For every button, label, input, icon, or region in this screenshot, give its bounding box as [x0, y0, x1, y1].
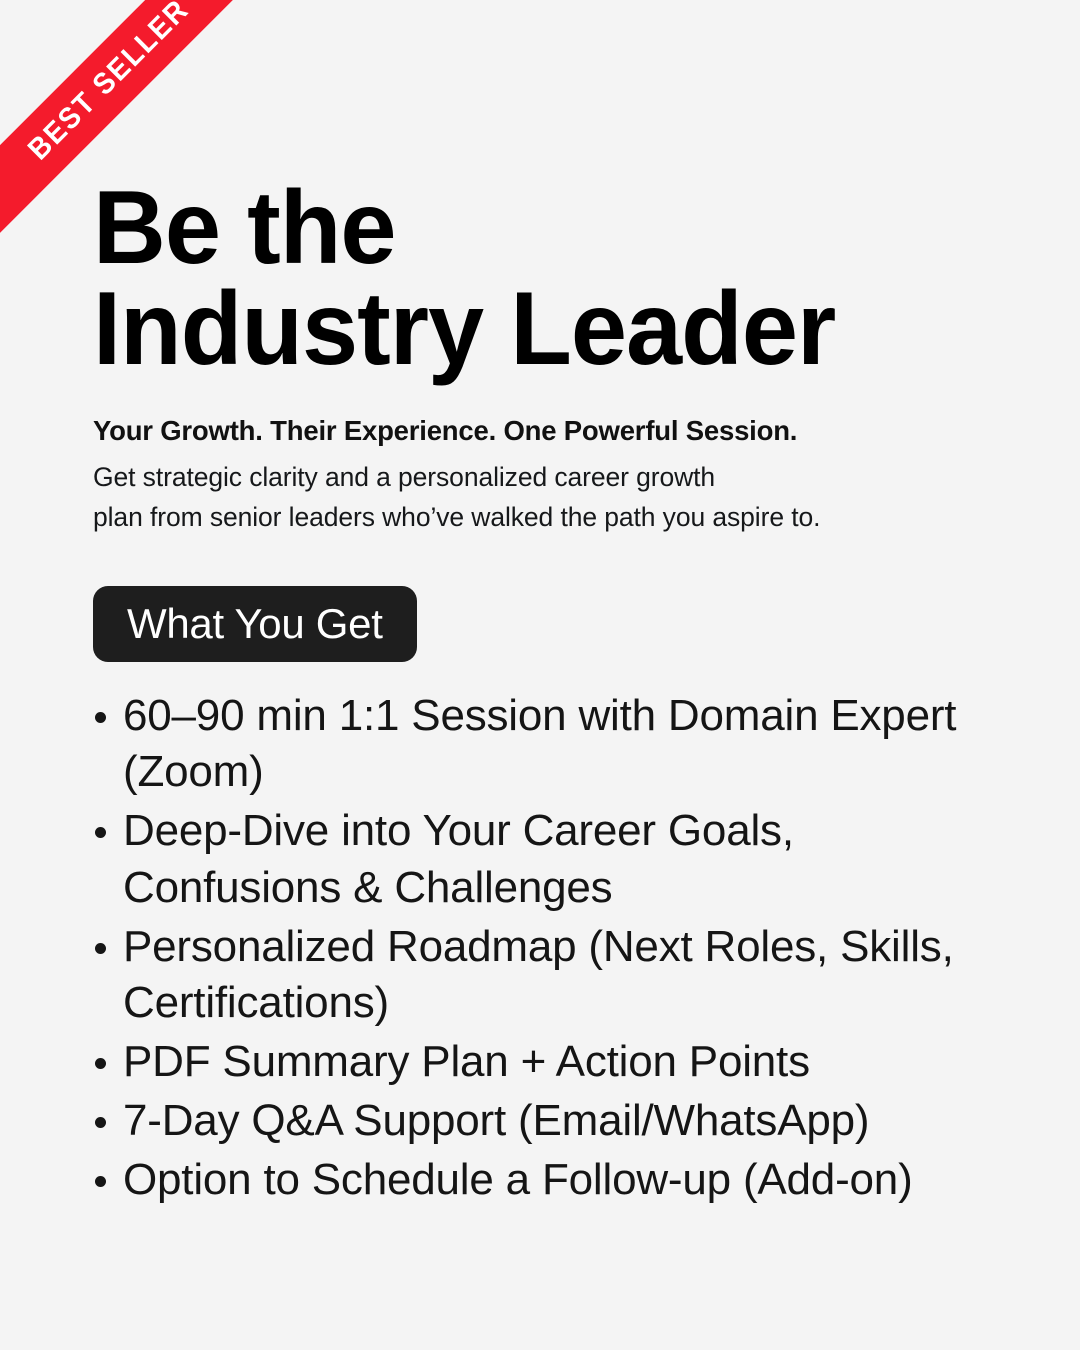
description-line-1: Get strategic clarity and a personalized… [93, 457, 1033, 497]
list-item-label: Personalized Roadmap (Next Roles, Skills… [123, 919, 1023, 1033]
list-item: Option to Schedule a Follow-up (Add-on) [93, 1152, 1023, 1209]
headline-line-1: Be the [93, 178, 1005, 279]
benefits-list: 60–90 min 1:1 Session with Domain Expert… [93, 662, 1033, 1209]
description: Get strategic clarity and a personalized… [93, 448, 1033, 538]
list-item: PDF Summary Plan + Action Points [93, 1034, 1023, 1091]
list-item-label: Option to Schedule a Follow-up (Add-on) [123, 1152, 1023, 1209]
bullet-icon [95, 1176, 106, 1187]
list-item: Personalized Roadmap (Next Roles, Skills… [93, 919, 1023, 1033]
what-you-get-badge: What You Get [93, 586, 417, 662]
bullet-icon [95, 1117, 106, 1128]
bullet-icon [95, 943, 106, 954]
bullet-icon [95, 1058, 106, 1069]
list-item: 60–90 min 1:1 Session with Domain Expert… [93, 688, 1023, 802]
bullet-icon [95, 827, 106, 838]
headline-line-2: Industry Leader [93, 279, 1005, 380]
badge-label: What You Get [127, 603, 383, 645]
badge-row: What You Get [93, 538, 1033, 662]
list-item: Deep-Dive into Your Career Goals, Confus… [93, 803, 1023, 917]
list-item-label: 7-Day Q&A Support (Email/WhatsApp) [123, 1093, 1023, 1150]
list-item-label: PDF Summary Plan + Action Points [123, 1034, 1023, 1091]
offer-card: Be the Industry Leader Your Growth. Thei… [93, 0, 1033, 1210]
list-item-label: 60–90 min 1:1 Session with Domain Expert… [123, 688, 1023, 802]
list-item-label: Deep-Dive into Your Career Goals, Confus… [123, 803, 1023, 917]
description-line-2: plan from senior leaders who’ve walked t… [93, 497, 1033, 537]
page-title: Be the Industry Leader [93, 0, 1005, 380]
bullet-icon [95, 712, 106, 723]
list-item: 7-Day Q&A Support (Email/WhatsApp) [93, 1093, 1023, 1150]
subheadline: Your Growth. Their Experience. One Power… [93, 380, 1033, 448]
